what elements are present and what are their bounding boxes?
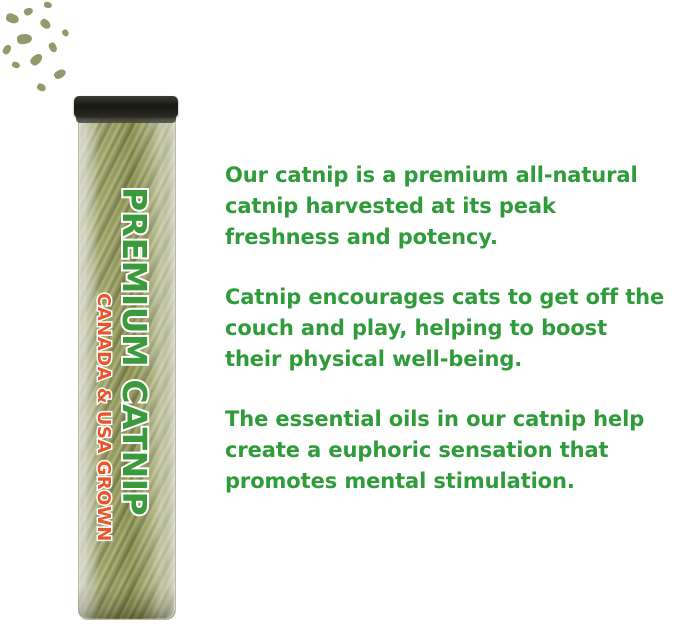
catnip-flake-icon	[44, 1, 53, 8]
catnip-flake-icon	[11, 61, 20, 69]
catnip-flake-icon	[5, 12, 20, 25]
catnip-tube-body	[78, 98, 176, 620]
catnip-flake-icon	[39, 17, 53, 30]
catnip-flake-icon	[36, 82, 47, 92]
catnip-flake-icon	[29, 52, 45, 68]
tube-cap-lip	[76, 116, 176, 123]
catnip-flake-icon	[53, 68, 67, 81]
marketing-paragraph: The essential oils in our catnip help cr…	[225, 404, 665, 497]
catnip-flake-icon	[1, 43, 12, 55]
catnip-flake-icon	[23, 6, 34, 16]
tube-cap	[74, 96, 178, 118]
catnip-flake-icon	[61, 28, 70, 37]
marketing-copy-block: Our catnip is a premium all-natural catn…	[225, 160, 665, 497]
marketing-paragraph: Catnip encourages cats to get off the co…	[225, 282, 665, 375]
tube-bottom-shadow	[78, 586, 174, 618]
product-marketing-image: PREMIUM CATNIP CANADA & USA GROWN Our ca…	[0, 0, 679, 643]
product-photo: PREMIUM CATNIP CANADA & USA GROWN	[0, 0, 215, 643]
marketing-paragraph: Our catnip is a premium all-natural catn…	[225, 160, 665, 253]
catnip-flake-icon	[16, 33, 32, 45]
tube-glass-highlight	[79, 99, 175, 619]
catnip-flake-icon	[47, 41, 58, 53]
